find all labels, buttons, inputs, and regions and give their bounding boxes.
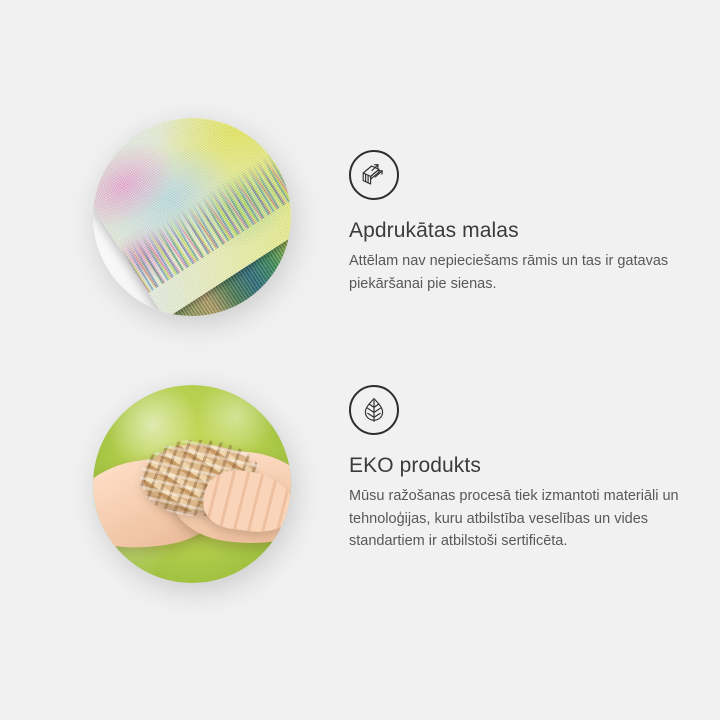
- feature-block-printed-edges: Apdrukātas malas Attēlam nav nepieciešam…: [93, 118, 693, 316]
- canvas-printed-edge-icon: [349, 150, 399, 200]
- feature-block-eco-product: EKO produkts Mūsu ražošanas procesā tiek…: [93, 385, 693, 583]
- product-feature-page: Apdrukātas malas Attēlam nav nepieciešam…: [0, 0, 720, 720]
- leaf-icon: [349, 385, 399, 435]
- feature-content-eco-product: EKO produkts Mūsu ražošanas procesā tiek…: [349, 385, 693, 553]
- feature-description: Attēlam nav nepieciešams rāmis un tas ir…: [349, 250, 693, 295]
- canvas-block: [93, 118, 291, 316]
- feature-content-printed-edges: Apdrukātas malas Attēlam nav nepieciešam…: [349, 118, 693, 295]
- canvas-corner-photo: [93, 118, 291, 316]
- feature-description: Mūsu ražošanas procesā tiek izmantoti ma…: [349, 485, 693, 552]
- eco-scene: [93, 385, 291, 583]
- photo-clip: [93, 118, 291, 316]
- hands-holding-wood-chips-photo: [93, 385, 291, 583]
- feature-title: EKO produkts: [349, 453, 693, 478]
- photo-clip: [93, 385, 291, 583]
- canvas-scene: [93, 118, 291, 316]
- feature-title: Apdrukātas malas: [349, 218, 693, 243]
